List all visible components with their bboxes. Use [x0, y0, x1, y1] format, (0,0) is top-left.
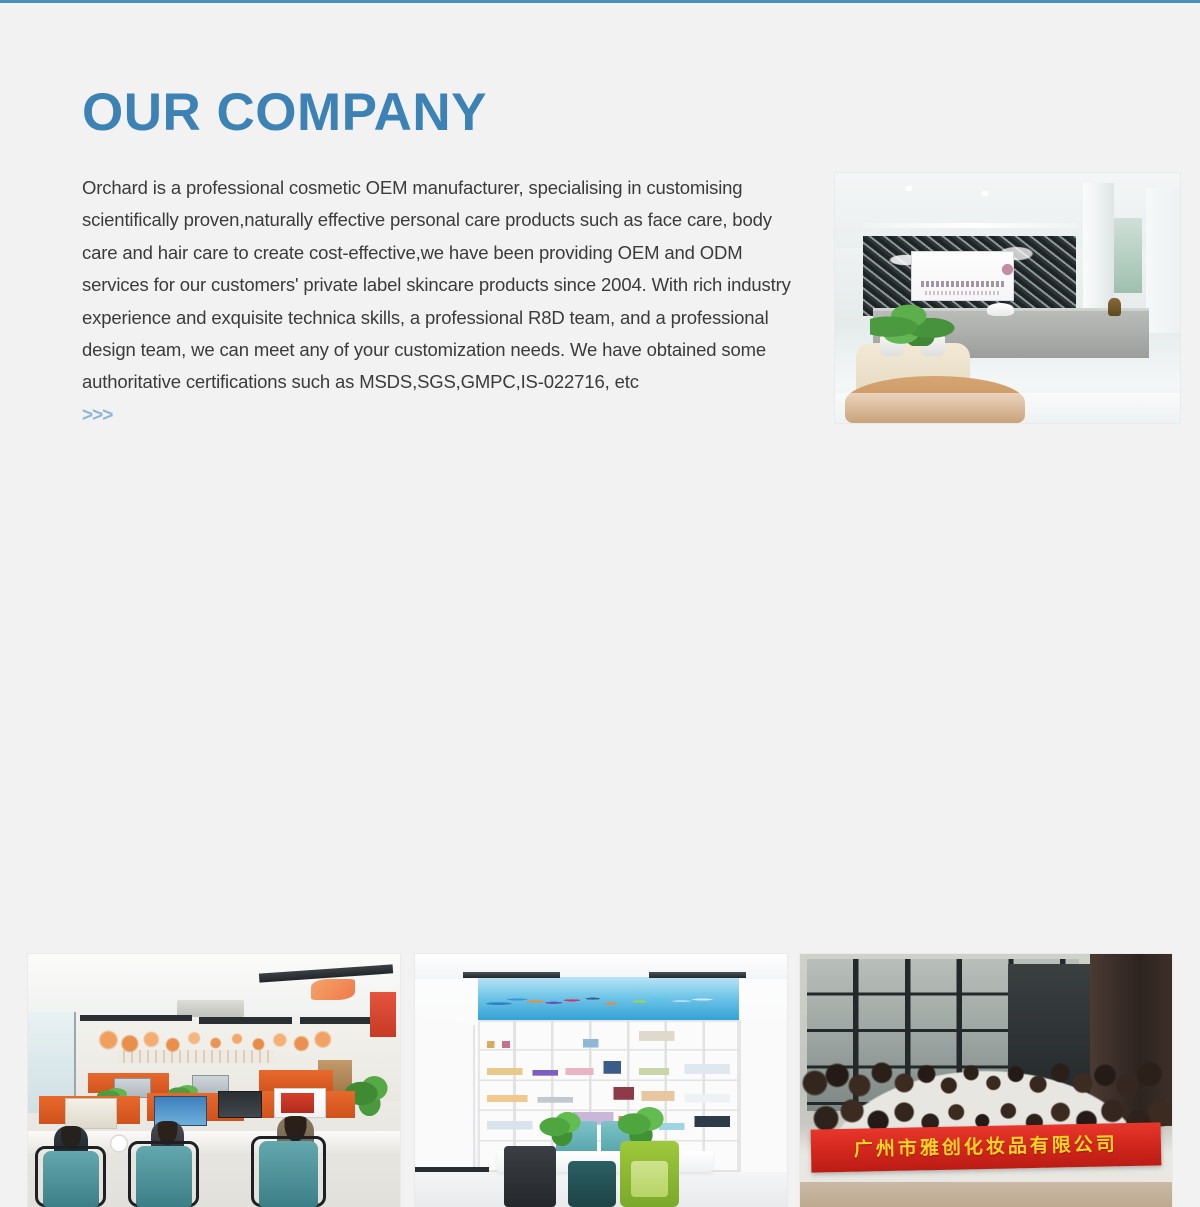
office-chair-center — [136, 1146, 192, 1207]
showroom-banner-bottle-graphics — [478, 979, 738, 1019]
office-hanging-decorations — [95, 1025, 363, 1055]
reception-vase — [987, 303, 1015, 316]
office-light-beam-center — [199, 1017, 292, 1024]
reception-column-secondary — [1146, 188, 1181, 333]
office-scene — [28, 954, 400, 1207]
reception-downlight-left — [904, 186, 914, 191]
reception-plant-foliage — [870, 303, 956, 346]
office-monitor-left — [65, 1098, 117, 1128]
reception-window — [1114, 218, 1142, 293]
facility-photo-gallery: 广州市雅创化妆品有限公司 — [0, 470, 1200, 750]
reception-sign-logo-icon — [1001, 263, 1015, 276]
showroom-track-light-right — [649, 972, 746, 978]
photo-open-plan-office — [28, 954, 400, 1207]
reception-cove-light — [863, 223, 1077, 228]
reception-ornament — [1108, 298, 1122, 316]
office-monitor-right-screen — [281, 1093, 314, 1113]
reception-sign-english-text — [925, 291, 1001, 295]
page-title: OUR COMPANY — [82, 84, 487, 142]
office-monitor-center-right — [218, 1091, 263, 1119]
showroom-track-light-left — [463, 972, 560, 978]
reception-sign-chinese-text — [921, 281, 1004, 288]
office-light-beam-left — [80, 1015, 192, 1022]
photo-product-showroom — [415, 954, 787, 1207]
office-streamer-decoration — [311, 979, 356, 999]
office-chair-left — [43, 1151, 99, 1207]
showroom-skirting — [415, 1167, 489, 1172]
showroom-table-plant-left — [538, 1111, 586, 1146]
reception-downlight-right — [980, 191, 990, 196]
group-photo-company-banner: 广州市雅创化妆品有限公司 — [811, 1122, 1161, 1172]
showroom-chair-teal — [568, 1161, 616, 1207]
showroom-scene — [415, 954, 787, 1207]
group-photo-scene: 广州市雅创化妆品有限公司 — [800, 954, 1172, 1207]
photo-staff-group: 广州市雅创化妆品有限公司 — [800, 954, 1172, 1207]
photo-reception-lobby — [835, 173, 1180, 423]
showroom-chair-dark — [504, 1146, 556, 1207]
company-intro-text: Orchard is a professional cosmetic OEM m… — [82, 172, 812, 399]
intro-paragraph: Orchard is a professional cosmetic OEM m… — [82, 172, 812, 399]
office-wall-banner — [370, 992, 396, 1038]
office-light-beam-right — [300, 1017, 382, 1024]
showroom-side-shelf-right — [739, 1020, 787, 1172]
group-photo-banner-text: 广州市雅创化妆品有限公司 — [854, 1135, 1118, 1160]
company-intro-section: OUR COMPANY Orchard is a professional co… — [0, 0, 1200, 470]
showroom-side-shelf-left — [415, 1016, 475, 1181]
showroom-chair-green-seat — [631, 1161, 668, 1196]
reception-scene — [835, 173, 1180, 423]
reception-floor-reflection — [835, 393, 1180, 423]
read-more-chevrons-icon[interactable]: >>> — [82, 406, 112, 425]
office-chair-right — [259, 1141, 319, 1207]
showroom-table-plant-right — [616, 1106, 668, 1146]
